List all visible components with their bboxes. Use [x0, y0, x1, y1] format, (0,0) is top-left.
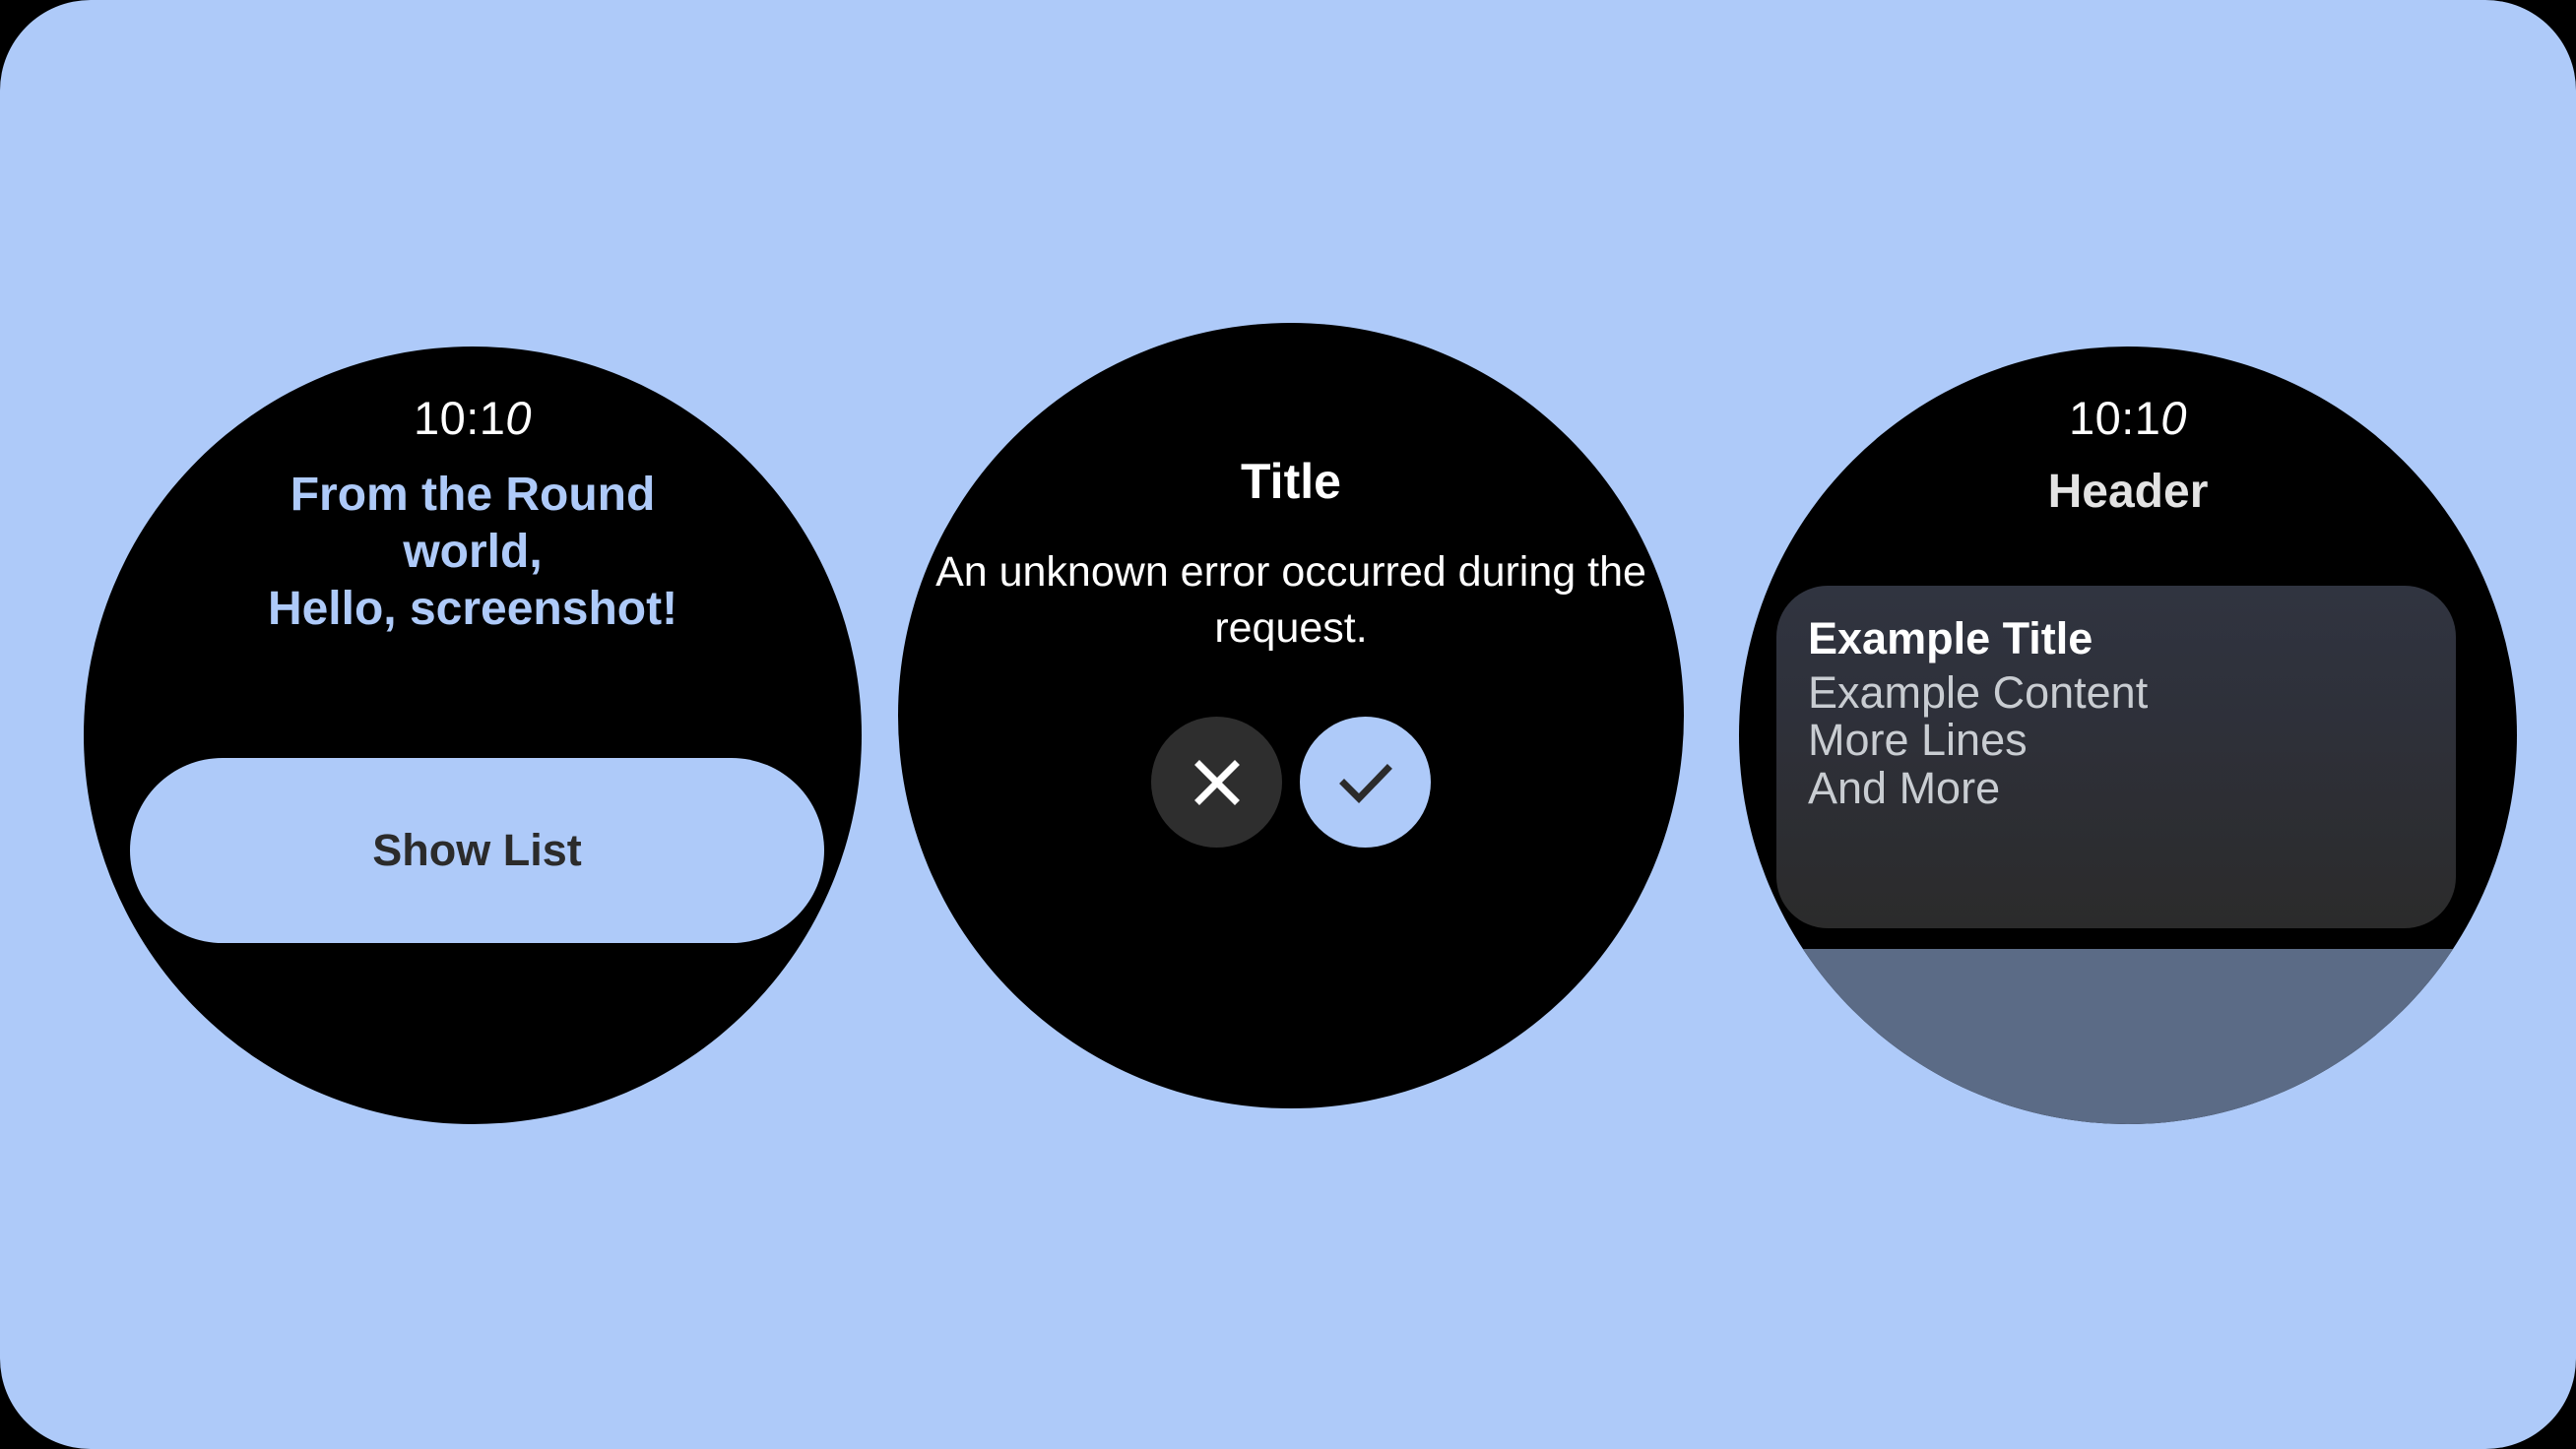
card-line: More Lines — [1808, 717, 2424, 765]
show-list-button[interactable]: Show List — [130, 758, 824, 943]
status-time-italic-suffix: 0 — [2160, 392, 2187, 444]
watch-preview-round-dialog: Title An unknown error occurred during t… — [898, 323, 1684, 1108]
status-time: 10:10 — [1739, 391, 2517, 445]
show-list-button-label: Show List — [372, 825, 582, 876]
card-title: Example Title — [1808, 615, 2424, 663]
dialog-message: An unknown error occurred during the req… — [898, 544, 1684, 657]
screenshot-canvas: 10:10 From the Round world, Hello, scree… — [0, 0, 2576, 1449]
dismiss-button[interactable] — [1151, 717, 1282, 848]
confirm-button[interactable] — [1300, 717, 1431, 848]
status-time: 10:10 — [84, 391, 862, 445]
dialog-title: Title — [898, 453, 1684, 510]
list-header: Header — [1739, 465, 2517, 519]
bottom-scrim — [1739, 949, 2517, 1124]
list-item-card[interactable]: Example Title Example Content More Lines… — [1776, 586, 2456, 928]
status-time-value: 10:1 — [414, 392, 505, 444]
card-line: And More — [1808, 765, 2424, 813]
close-icon — [1183, 748, 1252, 817]
status-time-value: 10:1 — [2069, 392, 2160, 444]
card-line: Example Content — [1808, 669, 2424, 718]
dialog-actions — [1151, 717, 1431, 848]
check-icon — [1329, 746, 1402, 819]
greeting-text: From the Round world, Hello, screenshot! — [84, 467, 862, 638]
watch-preview-round-greeting: 10:10 From the Round world, Hello, scree… — [84, 346, 862, 1124]
watch-preview-round-card-list: 10:10 Header Example Title Example Conte… — [1739, 346, 2517, 1124]
status-time-italic-suffix: 0 — [505, 392, 532, 444]
